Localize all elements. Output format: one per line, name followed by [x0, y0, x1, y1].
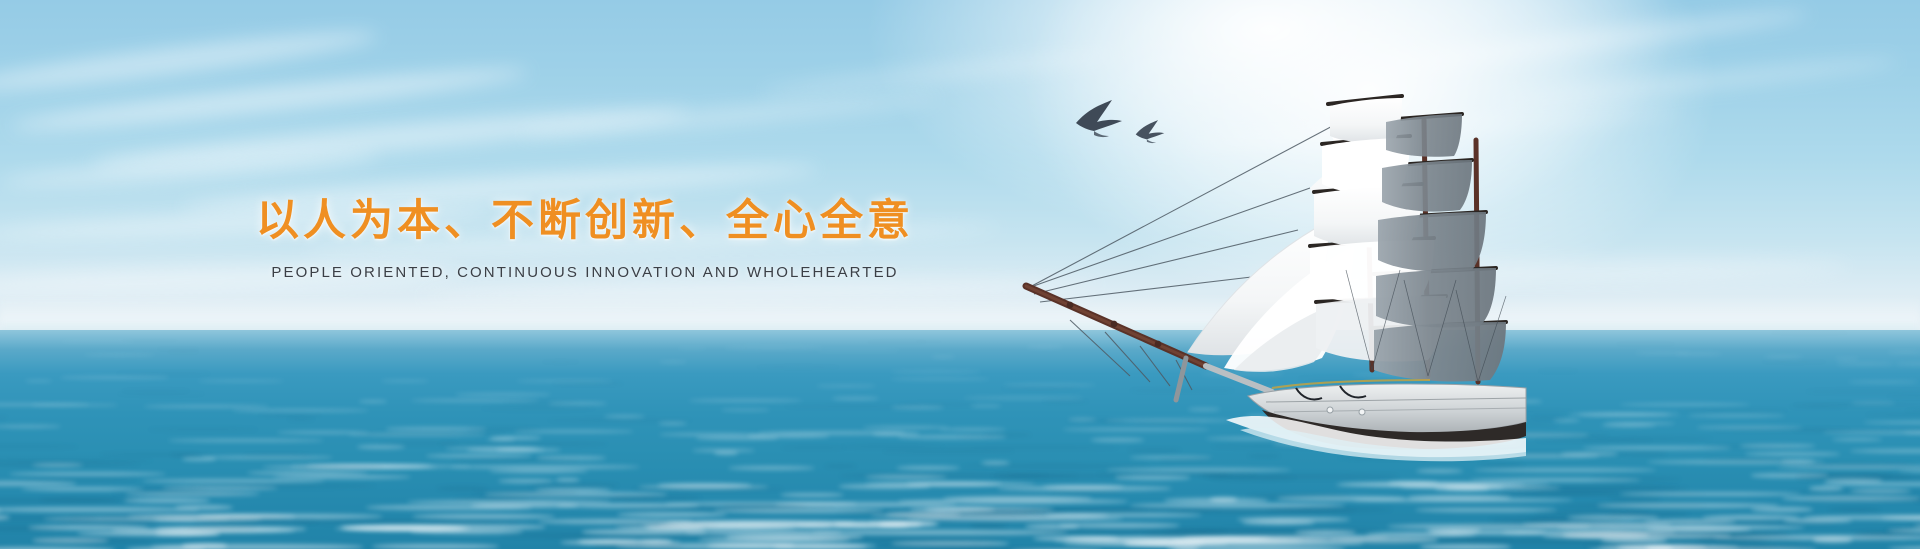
wave-highlight — [1760, 361, 1828, 363]
wave-highlight — [1633, 520, 1839, 525]
wave-highlight — [1898, 469, 1920, 473]
wave-highlight — [1163, 528, 1379, 533]
wave-highlight — [1850, 489, 1911, 493]
wave-highlight — [445, 447, 536, 451]
wave-highlight — [9, 472, 166, 476]
wave-highlight — [1804, 497, 1920, 502]
wave-highlight — [1563, 532, 1649, 537]
wave-highlight — [1043, 485, 1124, 489]
wave-highlight — [1583, 437, 1712, 440]
wave-highlight — [59, 520, 158, 525]
wave-highlight — [891, 541, 1009, 546]
wave-highlight — [133, 487, 208, 491]
wave-highlight — [641, 523, 832, 528]
wave-highlight — [529, 483, 618, 487]
wave-highlight — [335, 526, 471, 531]
wave-highlight — [182, 543, 228, 548]
wave-highlight — [426, 454, 533, 458]
wave-highlight — [1063, 541, 1228, 546]
wave-highlight — [720, 504, 807, 509]
wave-highlight — [61, 341, 135, 343]
wave-highlight — [1914, 498, 1920, 503]
wave-highlight — [273, 475, 411, 479]
wave-highlight — [277, 431, 369, 434]
wave-highlight — [1584, 543, 1710, 548]
wave-highlight — [1353, 498, 1573, 503]
wave-highlight — [489, 469, 588, 473]
wave-highlight — [287, 418, 315, 421]
cloud-wisp — [0, 147, 380, 191]
wave-highlight — [1210, 476, 1296, 480]
wave-highlight — [480, 496, 658, 501]
wave-highlight — [748, 434, 828, 437]
wave-highlight — [1439, 538, 1651, 543]
wave-highlight — [1683, 545, 1807, 549]
wave-highlight — [69, 515, 289, 520]
wave-highlight — [1489, 517, 1570, 522]
wave-highlight — [998, 486, 1171, 490]
wave-highlight — [498, 479, 554, 483]
wave-highlight — [1556, 503, 1705, 508]
wave-highlight — [1552, 532, 1793, 537]
wave-highlight — [1027, 529, 1227, 534]
wave-highlight — [1295, 530, 1357, 535]
wave-highlight — [535, 488, 611, 492]
wave-highlight — [198, 380, 284, 382]
wave-highlight — [898, 435, 1006, 438]
wave-highlight — [1688, 414, 1784, 417]
wave-highlight — [116, 393, 207, 396]
wave-highlight — [1825, 478, 1882, 482]
wave-highlight — [168, 439, 324, 442]
wave-highlight — [1260, 537, 1511, 542]
wave-highlight — [1172, 538, 1336, 543]
wave-highlight — [112, 491, 246, 495]
wave-highlight — [538, 519, 693, 524]
wave-highlight — [296, 465, 383, 469]
wave-highlight — [1503, 486, 1688, 490]
wave-highlight — [1335, 483, 1526, 487]
wave-highlight — [536, 456, 606, 460]
wave-highlight — [1502, 530, 1676, 535]
wave-highlight — [381, 380, 429, 382]
sky-background — [0, 0, 1920, 332]
wave-highlight — [438, 442, 609, 446]
wave-highlight — [1601, 424, 1654, 427]
wave-highlight — [714, 451, 738, 455]
wave-highlight — [0, 425, 61, 428]
wave-highlight — [1857, 475, 1920, 479]
wave-highlight — [471, 503, 579, 508]
wave-highlight — [0, 498, 117, 503]
wave-highlight — [1745, 452, 1840, 456]
wave-highlight — [879, 522, 922, 527]
wave-highlight — [1828, 507, 1881, 512]
wave-highlight — [1046, 489, 1124, 493]
wave-highlight — [1537, 370, 1578, 372]
sea-background — [0, 330, 1920, 549]
wave-highlight — [1620, 403, 1750, 406]
wave-highlight — [25, 380, 52, 382]
wave-highlight — [622, 506, 834, 511]
wave-highlight — [835, 521, 939, 526]
wave-highlight — [491, 436, 541, 439]
wave-highlight — [1247, 494, 1349, 499]
wave-highlight — [20, 477, 136, 481]
wave-highlight — [906, 482, 1001, 486]
wave-highlight — [1751, 507, 1813, 512]
wave-highlight — [836, 510, 1065, 515]
wave-highlight — [1567, 515, 1659, 520]
wave-highlight — [943, 496, 1092, 501]
wave-highlight — [77, 531, 221, 536]
wave-highlight — [1713, 535, 1920, 540]
wave-highlight — [1331, 537, 1438, 542]
wave-highlight — [1604, 422, 1675, 425]
wave-highlight — [1696, 426, 1803, 429]
wave-highlight — [124, 498, 211, 503]
wave-highlight — [1677, 409, 1788, 412]
wave-highlight — [841, 445, 945, 449]
wave-highlight — [473, 490, 576, 494]
wave-highlight — [175, 505, 233, 510]
wave-highlight — [1024, 507, 1221, 512]
hero-banner: 以人为本、不断创新、全心全意 PEOPLE ORIENTED, CONTINUO… — [0, 0, 1920, 549]
wave-highlight — [410, 529, 523, 534]
wave-highlight — [1578, 413, 1680, 416]
wave-highlight — [1387, 524, 1591, 529]
wave-highlight — [359, 400, 386, 403]
wave-highlight — [185, 526, 257, 531]
wave-highlight — [1143, 532, 1310, 537]
wave-highlight — [1813, 537, 1853, 542]
wave-highlight — [1644, 519, 1736, 524]
wave-highlight — [775, 502, 956, 507]
wave-highlight — [1522, 522, 1672, 527]
wave-highlight — [188, 484, 376, 488]
wave-highlight — [43, 517, 230, 522]
wave-highlight — [1822, 482, 1920, 486]
wave-highlight — [1543, 533, 1731, 538]
wave-highlight — [882, 450, 1014, 454]
wave-highlight — [144, 405, 269, 408]
wave-highlight — [925, 507, 1054, 512]
cloud-wisp — [1500, 53, 1899, 111]
wave-highlight — [865, 482, 1036, 486]
wave-highlight — [870, 513, 1109, 518]
wave-highlight — [665, 502, 857, 507]
wave-highlight — [1914, 523, 1920, 528]
wave-highlight — [1126, 540, 1363, 545]
wave-highlight — [1836, 363, 1894, 365]
wave-highlight — [658, 422, 687, 425]
wave-highlight — [810, 537, 1005, 542]
wave-highlight — [1430, 530, 1546, 535]
wave-highlight — [1568, 413, 1671, 416]
wave-highlight — [873, 543, 998, 548]
wave-highlight — [1806, 465, 1920, 469]
wave-highlight — [1470, 478, 1641, 482]
wave-highlight — [84, 354, 154, 356]
wave-highlight — [1865, 413, 1920, 416]
wave-highlight — [167, 351, 200, 353]
wave-highlight — [1788, 490, 1920, 494]
wave-highlight — [1782, 496, 1920, 501]
wave-highlight — [898, 499, 1129, 504]
wave-highlight — [170, 453, 200, 457]
wave-highlight — [247, 471, 368, 475]
wave-highlight — [1199, 473, 1231, 477]
wave-highlight — [1388, 481, 1438, 485]
wave-highlight — [1617, 545, 1706, 549]
wave-highlight — [649, 523, 679, 528]
wave-highlight — [696, 436, 778, 439]
wave-highlight — [910, 507, 995, 512]
wave-highlight — [295, 519, 519, 524]
wave-highlight — [1183, 535, 1389, 540]
wave-highlight — [1420, 544, 1511, 549]
wave-highlight — [1566, 531, 1789, 536]
wave-highlight — [873, 432, 920, 435]
cloud-wisp — [0, 23, 380, 100]
wave-highlight — [1527, 517, 1622, 522]
wave-highlight — [1764, 356, 1803, 358]
wave-highlight — [1697, 537, 1770, 542]
wave-highlight — [970, 523, 1006, 528]
cloud-wisp — [520, 90, 940, 143]
wave-highlight — [560, 540, 681, 545]
wave-highlight — [182, 457, 216, 461]
wave-highlight — [1635, 352, 1691, 354]
wave-highlight — [1620, 492, 1801, 497]
wave-highlight — [1832, 438, 1882, 441]
wave-highlight — [721, 409, 770, 412]
wave-highlight — [1713, 428, 1851, 431]
wave-highlight — [1646, 527, 1751, 532]
wave-highlight — [1123, 541, 1205, 546]
wave-highlight — [1609, 497, 1661, 502]
wave-highlight — [970, 405, 1002, 408]
wave-highlight — [1809, 486, 1843, 490]
wave-highlight — [0, 526, 68, 531]
wave-highlight — [981, 461, 1010, 465]
wave-highlight — [552, 382, 624, 384]
wave-highlight — [1775, 473, 1892, 477]
wave-highlight — [1597, 503, 1779, 508]
wave-highlight — [1777, 465, 1920, 469]
wave-highlight — [886, 512, 961, 517]
wave-highlight — [0, 516, 97, 521]
wave-highlight — [202, 456, 333, 460]
wave-highlight — [32, 463, 83, 467]
wave-highlight — [863, 426, 948, 429]
wave-highlight — [1848, 381, 1919, 383]
wave-highlight — [816, 350, 900, 352]
wave-highlight — [896, 466, 960, 470]
wave-highlight — [485, 492, 667, 497]
wave-highlight — [450, 465, 640, 469]
wave-highlight — [816, 385, 876, 387]
wave-highlight — [481, 407, 596, 410]
wave-highlight — [659, 522, 873, 527]
wave-highlight — [148, 428, 258, 431]
wave-highlight — [582, 529, 706, 534]
wave-highlight — [617, 512, 727, 517]
wave-highlight — [1557, 525, 1805, 530]
wave-highlight — [341, 524, 545, 529]
wave-highlight — [796, 523, 909, 528]
wave-highlight — [156, 526, 306, 531]
wave-highlight — [812, 530, 1068, 535]
wave-highlight — [258, 414, 322, 417]
wave-highlight — [1210, 497, 1236, 502]
wave-highlight — [1704, 445, 1795, 449]
wave-highlight — [0, 463, 141, 467]
wave-highlight — [343, 526, 466, 531]
wave-highlight — [754, 366, 842, 368]
wave-highlight — [594, 543, 682, 548]
wave-highlight — [468, 427, 539, 430]
wave-highlight — [1796, 474, 1910, 478]
wave-highlight — [659, 361, 688, 363]
wave-highlight — [1675, 353, 1722, 355]
wave-highlight — [502, 533, 729, 538]
wave-highlight — [1532, 416, 1568, 419]
wave-highlight — [1907, 524, 1920, 529]
wave-highlight — [1445, 486, 1561, 490]
wave-highlight — [0, 515, 10, 520]
wave-highlight — [1804, 515, 1920, 520]
wave-highlight — [40, 497, 138, 502]
wave-highlight — [115, 340, 184, 342]
wave-highlight — [496, 448, 544, 452]
wave-highlight — [1769, 332, 1850, 333]
wave-highlight — [824, 464, 857, 468]
wave-highlight — [1454, 523, 1654, 528]
wave-highlight — [1704, 458, 1798, 462]
wave-highlight — [514, 430, 634, 433]
wave-highlight — [1835, 358, 1859, 360]
wave-highlight — [1415, 508, 1558, 513]
wave-highlight — [1615, 343, 1676, 345]
wave-highlight — [1338, 482, 1550, 486]
wave-highlight — [1583, 446, 1731, 450]
wave-highlight — [127, 514, 296, 519]
wave-highlight — [142, 479, 325, 483]
wave-highlight — [659, 433, 764, 436]
wave-highlight — [1850, 449, 1920, 453]
wave-highlight — [156, 348, 200, 350]
wave-highlight — [1797, 476, 1920, 480]
wave-highlight — [99, 453, 213, 457]
wave-highlight — [1789, 405, 1847, 408]
wave-highlight — [467, 448, 562, 452]
wave-highlight — [638, 485, 769, 489]
wave-highlight — [1895, 363, 1920, 365]
wave-highlight — [1366, 532, 1476, 537]
wave-highlight — [1648, 536, 1800, 541]
wave-highlight — [1778, 462, 1916, 466]
wave-highlight — [1863, 421, 1920, 424]
wave-highlight — [290, 465, 471, 469]
wave-highlight — [412, 514, 555, 519]
wave-highlight — [1242, 520, 1315, 525]
wave-highlight — [781, 446, 846, 450]
wave-highlight — [1267, 507, 1391, 512]
wave-highlight — [1887, 528, 1920, 533]
wave-highlight — [454, 497, 527, 502]
wave-highlight — [613, 522, 719, 527]
wave-highlight — [28, 525, 148, 530]
wave-highlight — [453, 458, 578, 462]
wave-highlight — [0, 508, 1, 513]
wave-highlight — [1751, 473, 1827, 477]
wave-highlight — [555, 478, 580, 482]
wave-highlight — [557, 503, 699, 508]
wave-highlight — [1851, 402, 1895, 405]
wave-highlight — [0, 459, 153, 463]
wave-highlight — [616, 543, 877, 548]
wave-highlight — [151, 544, 363, 549]
wave-highlight — [1536, 510, 1650, 515]
wave-highlight — [839, 484, 931, 488]
wave-highlight — [0, 403, 89, 406]
wave-highlight — [1561, 452, 1619, 456]
wave-highlight — [1885, 528, 1914, 533]
wave-highlight — [1793, 403, 1920, 406]
wave-highlight — [707, 543, 795, 548]
wave-highlight — [1903, 431, 1920, 434]
wave-highlight — [366, 505, 532, 510]
wave-highlight — [1205, 474, 1397, 478]
wave-highlight — [931, 356, 955, 358]
wave-highlight — [1781, 460, 1814, 464]
wave-highlight — [306, 464, 431, 468]
wave-highlight — [1598, 545, 1739, 549]
wave-highlight — [0, 507, 199, 512]
wave-highlight — [1553, 419, 1579, 422]
wave-highlight — [1059, 523, 1179, 528]
wave-highlight — [692, 449, 755, 453]
wave-highlight — [689, 399, 802, 402]
wave-highlight — [1822, 431, 1920, 434]
wave-highlight — [685, 530, 842, 535]
wave-highlight — [784, 405, 921, 408]
wave-highlight — [615, 525, 797, 530]
wave-highlight — [1164, 498, 1268, 503]
wave-highlight — [1064, 536, 1271, 541]
wave-highlight — [666, 520, 855, 525]
wave-highlight — [232, 409, 369, 412]
wave-highlight — [21, 487, 143, 491]
wave-highlight — [1806, 390, 1920, 393]
wave-highlight — [759, 431, 904, 434]
wave-highlight — [32, 538, 108, 543]
wave-highlight — [1904, 409, 1920, 412]
wave-highlight — [912, 341, 945, 343]
wave-highlight — [1621, 452, 1667, 456]
wave-highlight — [898, 403, 977, 406]
wave-highlight — [957, 435, 993, 438]
wave-highlight — [456, 393, 550, 396]
wave-highlight — [773, 544, 867, 549]
wave-highlight — [117, 372, 209, 374]
wave-highlight — [121, 390, 191, 393]
wave-highlight — [1855, 534, 1895, 539]
wave-highlight — [386, 427, 486, 430]
wave-highlight — [888, 513, 1048, 518]
wave-highlight — [0, 445, 79, 449]
